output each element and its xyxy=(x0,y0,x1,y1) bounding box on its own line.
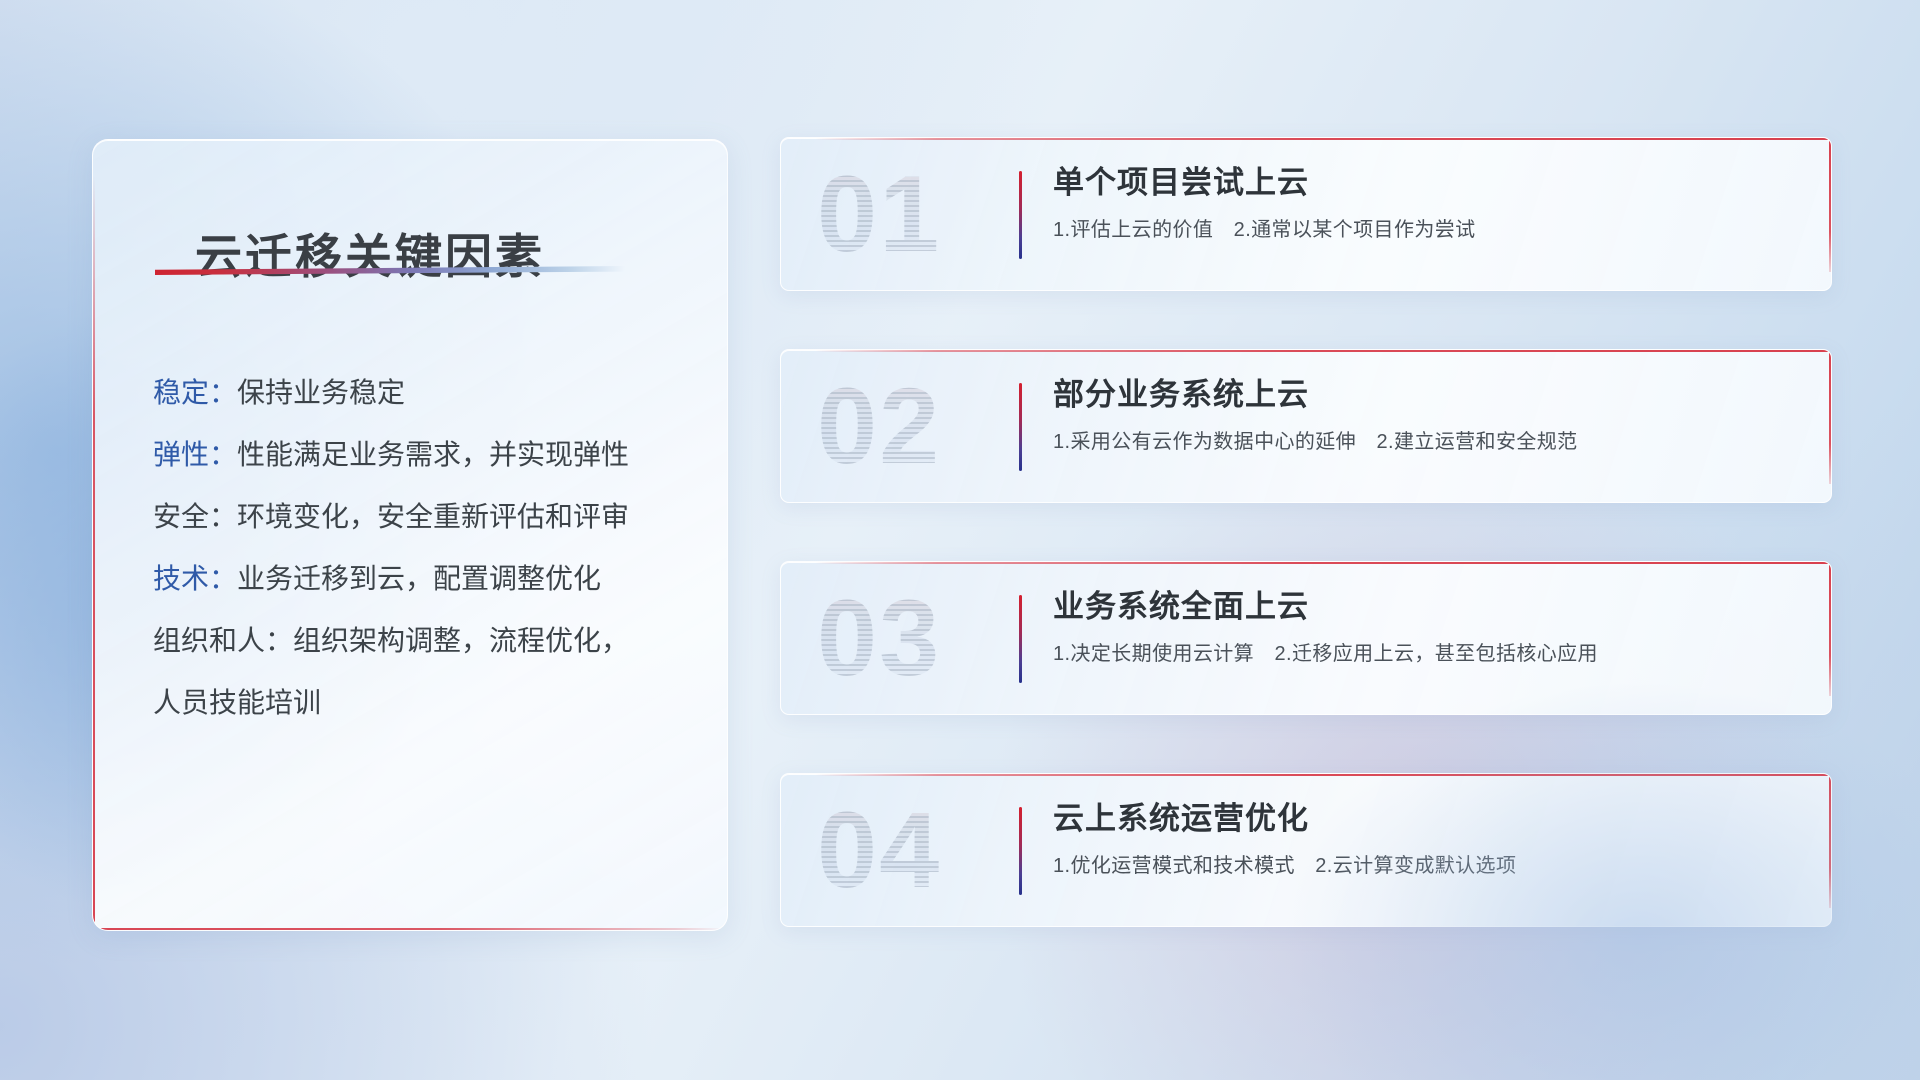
step-number: 02 xyxy=(817,372,941,480)
card-top-accent-edge xyxy=(815,138,1831,140)
factor-label: 弹性： xyxy=(153,439,237,470)
factor-label: 组织和人： xyxy=(153,625,293,656)
key-factors-panel: 云迁移关键因素 稳定：保持业务稳定 弹性：性能满足业务需求，并实现弹性 安全：环… xyxy=(92,139,728,931)
card-top-accent-edge xyxy=(815,350,1831,352)
list-item: 组织和人：组织架构调整，流程优化， xyxy=(153,610,697,672)
card-right-accent-edge xyxy=(1829,562,1831,696)
step-body: 云上系统运营优化 1.优化运营模式和技术模式 2.云计算变成默认选项 xyxy=(1053,800,1805,879)
step-subtitle: 1.决定长期使用云计算 2.迁移应用上云，甚至包括核心应用 xyxy=(1053,641,1805,667)
panel-bottom-accent-edge xyxy=(93,928,725,930)
factor-value: 人员技能培训 xyxy=(153,687,321,718)
factor-value: 业务迁移到云，配置调整优化 xyxy=(237,563,601,594)
step-title: 部分业务系统上云 xyxy=(1053,376,1805,415)
list-item: 稳定：保持业务稳定 xyxy=(153,362,697,424)
maturity-steps-list: 01 单个项目尝试上云 1.评估上云的价值 2.通常以某个项目作为尝试 02 部… xyxy=(780,137,1832,927)
factor-label: 稳定： xyxy=(153,377,237,408)
page-title: 云迁移关键因素 xyxy=(195,218,545,287)
step-number: 01 xyxy=(817,160,941,268)
slide-canvas: 云迁移关键因素 稳定：保持业务稳定 弹性：性能满足业务需求，并实现弹性 安全：环… xyxy=(0,0,1920,1080)
list-item: 安全：环境变化，安全重新评估和评审 xyxy=(153,486,697,548)
step-divider-bar xyxy=(1019,807,1022,895)
factor-label: 安全： xyxy=(153,501,237,532)
list-item: 技术：业务迁移到云，配置调整优化 xyxy=(153,548,697,610)
card-right-accent-edge xyxy=(1829,774,1831,908)
card-right-accent-edge xyxy=(1829,138,1831,272)
step-title: 云上系统运营优化 xyxy=(1053,800,1805,839)
step-card-04[interactable]: 04 云上系统运营优化 1.优化运营模式和技术模式 2.云计算变成默认选项 xyxy=(780,773,1832,927)
step-number: 03 xyxy=(817,584,941,692)
step-body: 部分业务系统上云 1.采用公有云作为数据中心的延伸 2.建立运营和安全规范 xyxy=(1053,376,1805,455)
step-number: 04 xyxy=(817,796,941,904)
step-subtitle: 1.优化运营模式和技术模式 2.云计算变成默认选项 xyxy=(1053,853,1805,879)
step-divider-bar xyxy=(1019,595,1022,683)
list-item: 人员技能培训 xyxy=(153,672,697,734)
list-item: 弹性：性能满足业务需求，并实现弹性 xyxy=(153,424,697,486)
factor-value: 保持业务稳定 xyxy=(237,377,405,408)
card-top-accent-edge xyxy=(815,562,1831,564)
step-card-02[interactable]: 02 部分业务系统上云 1.采用公有云作为数据中心的延伸 2.建立运营和安全规范 xyxy=(780,349,1832,503)
step-title: 单个项目尝试上云 xyxy=(1053,164,1805,203)
step-title: 业务系统全面上云 xyxy=(1053,588,1805,627)
factor-label: 技术： xyxy=(153,563,237,594)
step-divider-bar xyxy=(1019,383,1022,471)
step-card-03[interactable]: 03 业务系统全面上云 1.决定长期使用云计算 2.迁移应用上云，甚至包括核心应… xyxy=(780,561,1832,715)
step-body: 单个项目尝试上云 1.评估上云的价值 2.通常以某个项目作为尝试 xyxy=(1053,164,1805,243)
card-top-accent-edge xyxy=(815,774,1831,776)
step-subtitle: 1.评估上云的价值 2.通常以某个项目作为尝试 xyxy=(1053,217,1805,243)
step-subtitle: 1.采用公有云作为数据中心的延伸 2.建立运营和安全规范 xyxy=(1053,429,1805,455)
panel-left-accent-edge xyxy=(93,176,95,930)
step-divider-bar xyxy=(1019,171,1022,259)
step-card-01[interactable]: 01 单个项目尝试上云 1.评估上云的价值 2.通常以某个项目作为尝试 xyxy=(780,137,1832,291)
factor-value: 组织架构调整，流程优化， xyxy=(293,625,629,656)
step-body: 业务系统全面上云 1.决定长期使用云计算 2.迁移应用上云，甚至包括核心应用 xyxy=(1053,588,1805,667)
card-right-accent-edge xyxy=(1829,350,1831,484)
factor-value: 性能满足业务需求，并实现弹性 xyxy=(237,439,629,470)
factor-list: 稳定：保持业务稳定 弹性：性能满足业务需求，并实现弹性 安全：环境变化，安全重新… xyxy=(153,362,697,734)
factor-value: 环境变化，安全重新评估和评审 xyxy=(237,501,629,532)
